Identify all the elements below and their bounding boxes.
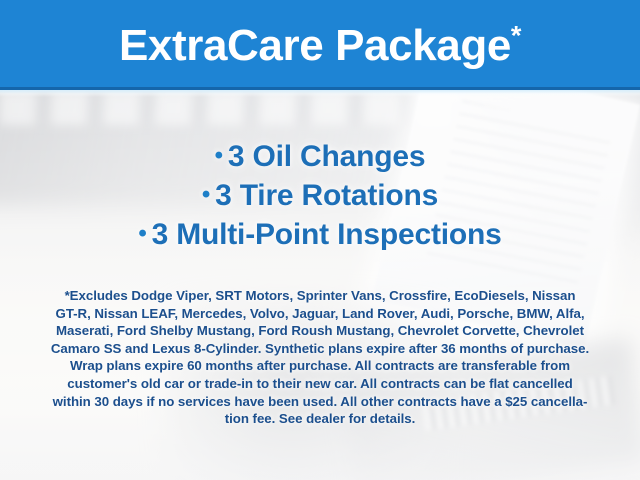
disclaimer-line: Wrap plans expire 60 months after purcha… bbox=[26, 357, 614, 375]
benefit-item-label: 3 Tire Rotations bbox=[215, 179, 438, 212]
bullet-icon: • bbox=[202, 181, 210, 208]
bullet-icon: • bbox=[138, 220, 146, 247]
disclaimer-line: *Excludes Dodge Viper, SRT Motors, Sprin… bbox=[26, 287, 614, 305]
page-title-text: ExtraCare Package bbox=[119, 21, 511, 70]
benefit-item-multi-point-inspections: •3 Multi-Point Inspections bbox=[0, 216, 640, 255]
bullet-icon: • bbox=[215, 142, 223, 169]
extracare-package-promo: ExtraCare Package* •3 Oil Changes •3 Tir… bbox=[0, 0, 640, 480]
page-title-asterisk: * bbox=[511, 20, 521, 50]
page-title: ExtraCare Package* bbox=[119, 24, 521, 68]
disclaimer-line: customer's old car or trade-in to their … bbox=[26, 375, 614, 393]
disclaimer-line: tion fee. See dealer for details. bbox=[26, 410, 614, 428]
disclaimer-line: GT-R, Nissan LEAF, Mercedes, Volvo, Jagu… bbox=[26, 305, 614, 323]
disclaimer-line: Maserati, Ford Shelby Mustang, Ford Rous… bbox=[26, 322, 614, 340]
benefit-item-tire-rotations: •3 Tire Rotations bbox=[0, 177, 640, 216]
disclaimer-text: *Excludes Dodge Viper, SRT Motors, Sprin… bbox=[26, 287, 614, 428]
header-banner: ExtraCare Package* bbox=[0, 0, 640, 90]
disclaimer-line: Camaro SS and Lexus 8-Cylinder. Syntheti… bbox=[26, 340, 614, 358]
background-hood-slats-shape bbox=[0, 91, 461, 125]
disclaimer-line: within 30 days if no services have been … bbox=[26, 393, 614, 411]
benefits-list: •3 Oil Changes •3 Tire Rotations •3 Mult… bbox=[0, 138, 640, 255]
benefit-item-oil-changes: •3 Oil Changes bbox=[0, 138, 640, 177]
benefit-item-label: 3 Multi-Point Inspections bbox=[152, 218, 502, 251]
banner-glow-divider bbox=[0, 90, 640, 97]
benefit-item-label: 3 Oil Changes bbox=[228, 140, 425, 173]
